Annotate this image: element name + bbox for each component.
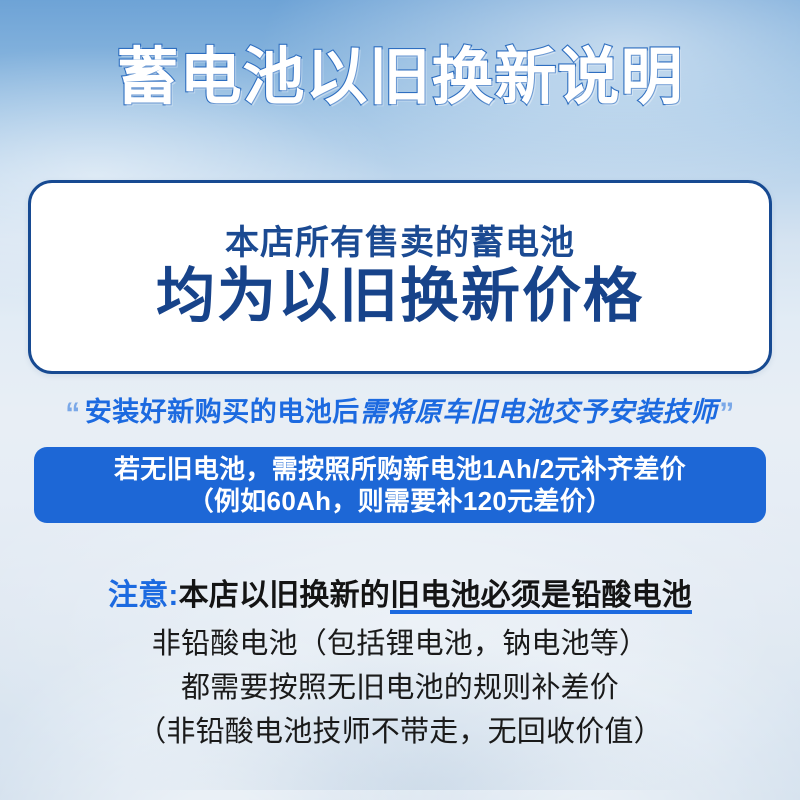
- quote-open-mark: “: [65, 397, 81, 430]
- quote-banner: “安装好新购买的电池后需将原车旧电池交予安装技师”: [0, 390, 800, 431]
- poster-root: 蓄电池以旧换新说明 本店所有售卖的蓄电池 均为以旧换新价格 “安装好新购买的电池…: [0, 0, 800, 800]
- quote-emphasis-text: 需将原车旧电池交予安装技师: [360, 397, 718, 427]
- highlight-card: 本店所有售卖的蓄电池 均为以旧换新价格: [28, 180, 772, 374]
- price-rule-line-1: 若无旧电池，需按照所购新电池1Ah/2元补齐差价: [114, 453, 686, 486]
- note-headline-plain: 本店以旧换新的: [179, 579, 390, 612]
- card-headline: 均为以旧换新价格: [156, 265, 644, 329]
- quote-normal-text: 安装好新购买的电池后: [85, 397, 360, 427]
- title-container: 蓄电池以旧换新说明: [0, 47, 800, 109]
- price-rule-line-2: （例如60Ah，则需要补120元差价）: [188, 485, 613, 518]
- note-body-line-1: 非铅酸电池（包括锂电池，钠电池等）: [0, 622, 800, 666]
- page-title: 蓄电池以旧换新说明: [116, 47, 683, 109]
- note-body: 非铅酸电池（包括锂电池，钠电池等） 都需要按照无旧电池的规则补差价 （非铅酸电池…: [0, 622, 800, 754]
- note-headline: 注意:本店以旧换新的旧电池必须是铅酸电池: [0, 575, 800, 618]
- price-rule-box: 若无旧电池，需按照所购新电池1Ah/2元补齐差价 （例如60Ah，则需要补120…: [34, 447, 766, 523]
- card-subheading: 本店所有售卖的蓄电池: [225, 225, 575, 262]
- note-label: 注意:: [108, 579, 179, 612]
- note-body-line-2: 都需要按照无旧电池的规则补差价: [0, 666, 800, 710]
- notes-section: 注意:本店以旧换新的旧电池必须是铅酸电池 非铅酸电池（包括锂电池，钠电池等） 都…: [0, 575, 800, 754]
- quote-close-mark: ”: [719, 397, 735, 430]
- note-headline-underlined: 旧电池必须是铅酸电池: [390, 579, 692, 614]
- note-body-line-3: （非铅酸电池技师不带走，无回收价值）: [0, 710, 800, 754]
